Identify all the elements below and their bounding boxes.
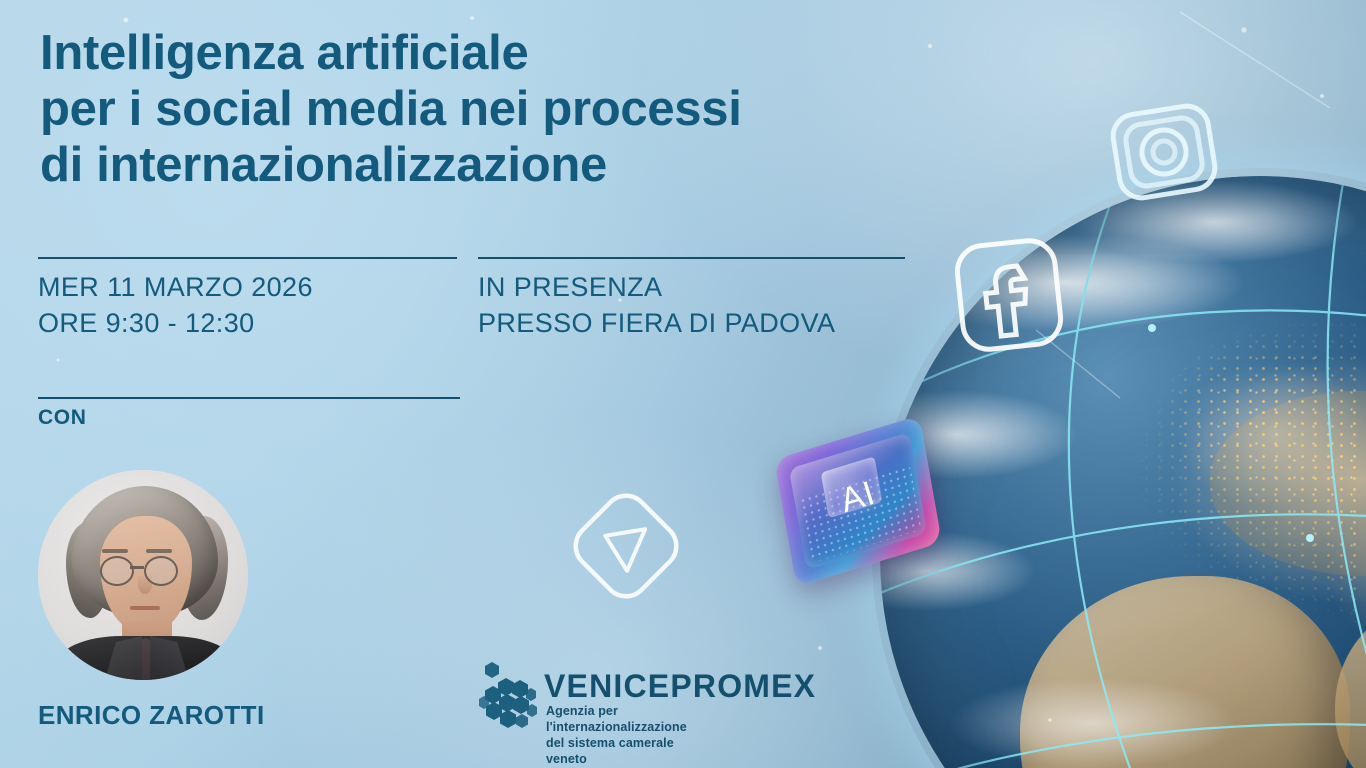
avatar-glasses-left	[100, 556, 134, 586]
divider-date	[38, 257, 457, 259]
event-place-block: IN PRESENZA PRESSO FIERA DI PADOVA	[478, 270, 835, 341]
hexagon-sphere-icon	[478, 660, 540, 735]
logo-tagline: Agenzia per l'internazionalizzazione del…	[546, 703, 687, 767]
event-date: MER 11 MARZO 2026	[38, 270, 313, 306]
title-line-3: di internazionalizzazione	[40, 138, 920, 194]
avatar-brow-right	[146, 549, 172, 553]
divider-with	[38, 397, 460, 399]
logo-tagline-line-2: del sistema camerale veneto	[546, 735, 687, 767]
avatar-nose	[138, 574, 152, 594]
event-venue: PRESSO FIERA DI PADOVA	[478, 306, 835, 342]
speaker-avatar	[38, 470, 248, 680]
avatar-mouth	[130, 606, 160, 610]
event-time: ORE 9:30 - 12:30	[38, 306, 313, 342]
logo-tagline-line-1: Agenzia per l'internazionalizzazione	[546, 703, 687, 735]
page-title: Intelligenza artificiale per i social me…	[40, 26, 920, 194]
speaker-name: ENRICO ZAROTTI	[38, 700, 265, 731]
title-line-1: Intelligenza artificiale	[40, 26, 920, 82]
avatar-brow-left	[102, 549, 128, 553]
event-banner: AI Intelligenza	[0, 0, 1366, 768]
title-line-2: per i social media nei processi	[40, 82, 920, 138]
event-date-block: MER 11 MARZO 2026 ORE 9:30 - 12:30	[38, 270, 313, 341]
logo-wordmark: VENICEPROMEX	[544, 668, 816, 705]
with-label: CON	[38, 406, 86, 430]
avatar-glasses-bridge	[130, 566, 144, 569]
divider-place	[478, 257, 905, 259]
content-layer: Intelligenza artificiale per i social me…	[0, 0, 1366, 768]
event-format: IN PRESENZA	[478, 270, 835, 306]
